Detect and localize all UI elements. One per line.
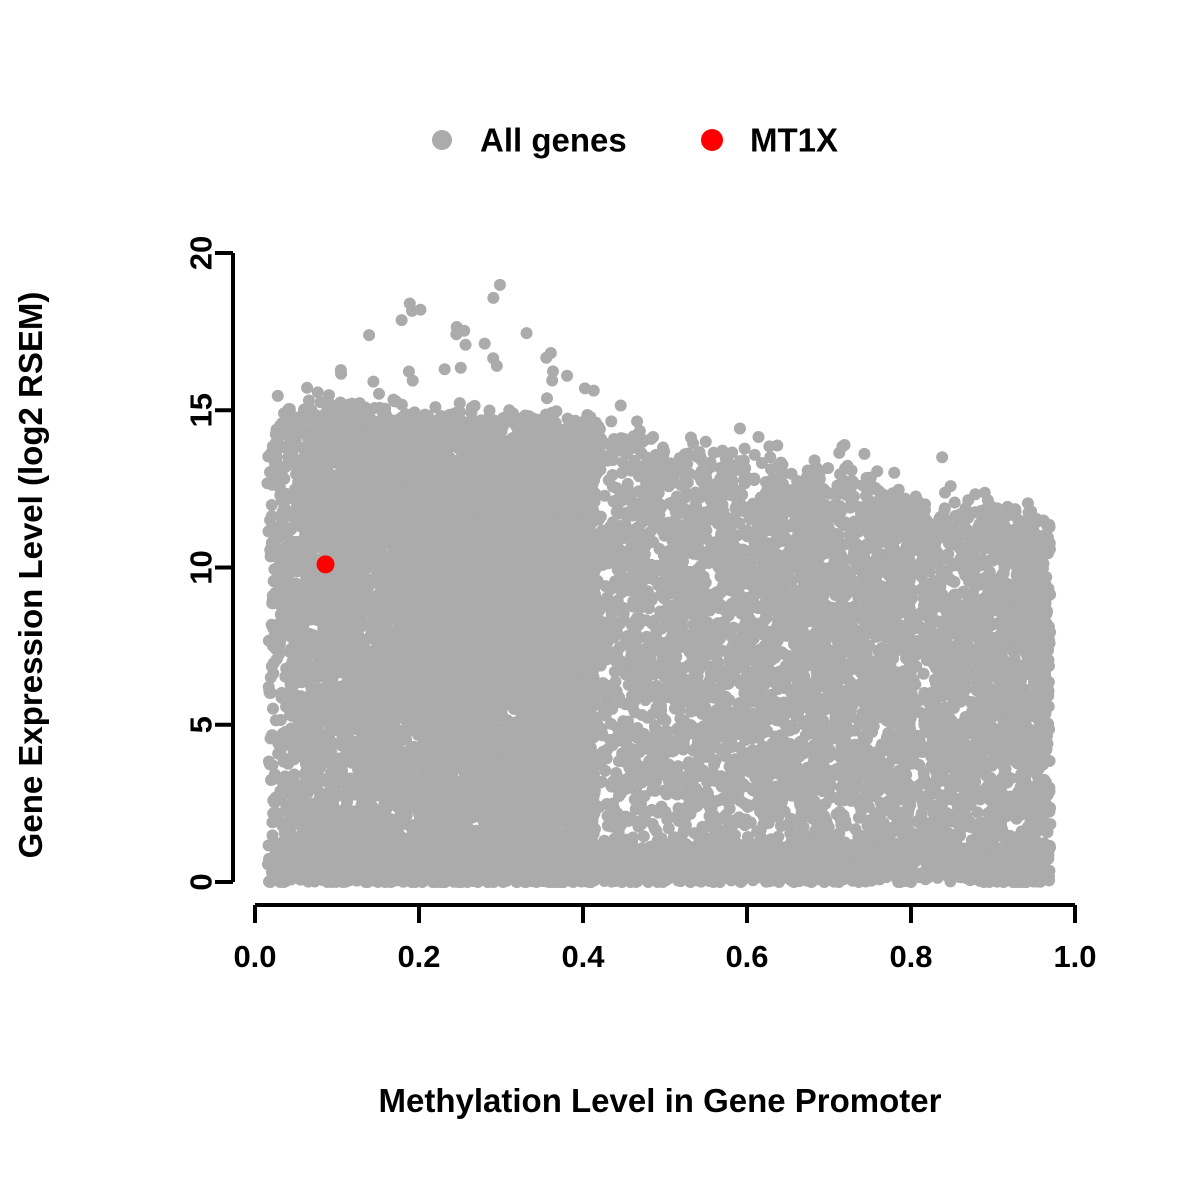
y-axis-tick-label: 10: [184, 550, 219, 584]
x-axis-tick-label: 0.8: [889, 939, 932, 974]
y-axis-tick-label: 20: [184, 236, 219, 270]
legend-label-mt1x: MT1X: [750, 122, 838, 159]
x-axis-tick-label: 0.6: [725, 939, 768, 974]
y-axis-tick-label: 0: [184, 873, 219, 890]
legend-label-all-genes: All genes: [480, 122, 627, 159]
highlight-point-layer: [317, 555, 335, 573]
mt1x-data-point: [317, 555, 335, 573]
x-axis-title: Methylation Level in Gene Promoter: [379, 1082, 942, 1119]
scatter-plot-figure: 05101520 0.00.20.40.60.81.0 All genesMT1…: [0, 0, 1200, 1200]
x-axis-tick-label: 1.0: [1053, 939, 1096, 974]
y-axis-title: Gene Expression Level (log2 RSEM): [12, 292, 49, 859]
legend-marker-mt1x: [701, 129, 723, 151]
y-axis-tick-label: 15: [184, 393, 219, 427]
y-axis-tick-label: 5: [184, 716, 219, 733]
x-axis-tick-label: 0.0: [233, 939, 276, 974]
plot-canvas: 05101520 0.00.20.40.60.81.0 All genesMT1…: [0, 0, 1200, 1200]
x-axis-tick-label: 0.2: [397, 939, 440, 974]
legend-marker-all-genes: [432, 130, 452, 150]
x-axis-tick-label: 0.4: [561, 939, 605, 974]
